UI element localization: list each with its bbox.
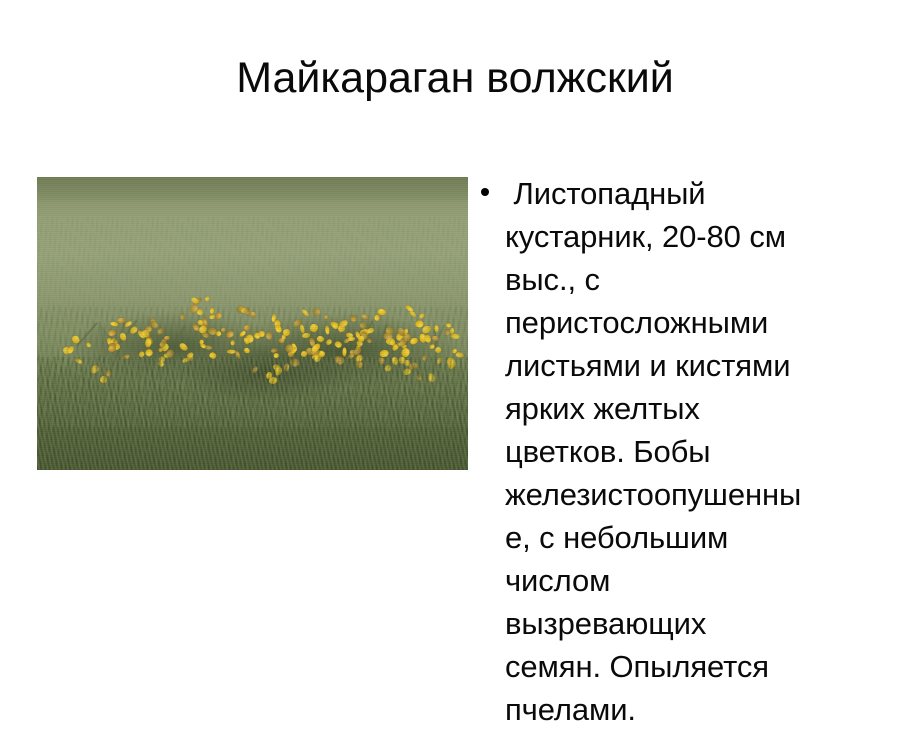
- bullet-dot-icon: [481, 188, 489, 196]
- bullet-item: Листопадный кустарник, 20-80 см выс., с …: [478, 172, 878, 731]
- photo-canvas: [37, 177, 468, 470]
- flower-head: [108, 346, 116, 352]
- flower-head: [342, 348, 346, 357]
- description-text: Листопадный кустарник, 20-80 см выс., с …: [505, 172, 878, 731]
- flower-head: [220, 327, 226, 332]
- grass-near-layer: [37, 357, 468, 470]
- page-title: Майкараган волжский: [0, 52, 910, 104]
- slide-canvas: Майкараган волжский Листопадный кустарни…: [0, 0, 910, 683]
- plant-photo: [37, 177, 468, 470]
- flower-head: [266, 332, 272, 340]
- description-block: Листопадный кустарник, 20-80 см выс., с …: [478, 172, 878, 731]
- flower-head: [230, 340, 234, 346]
